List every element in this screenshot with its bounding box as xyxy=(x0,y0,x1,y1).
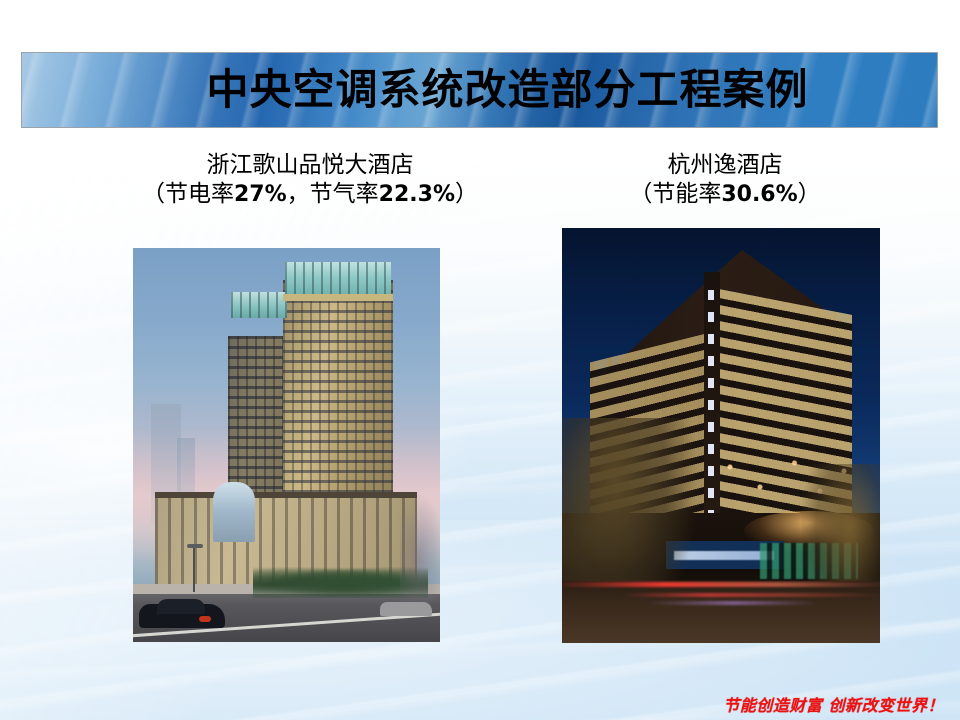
photo-1-car-silver xyxy=(380,602,432,616)
photo-1-street-lamp-head xyxy=(187,544,203,548)
case-1-stats-prefix: （节电率 xyxy=(142,181,234,207)
photo-2-light-trail-red-a xyxy=(562,582,880,587)
title-banner: 中央空调系统改造部分工程案例 xyxy=(21,52,938,128)
photo-1-crown-mullions-a xyxy=(285,262,391,296)
case-2-stats-prefix: （节能率 xyxy=(629,181,721,207)
case-1-name: 浙江歌山品悦大酒店 xyxy=(110,152,510,179)
case-1-stats-suffix: ） xyxy=(455,181,478,207)
caption-case-1: 浙江歌山品悦大酒店 （节电率27%，节气率22.3%） xyxy=(110,152,510,208)
photo-1-glass-crown-secondary xyxy=(231,292,287,318)
photo-2-light-trail-violet xyxy=(648,601,818,605)
case-2-stats: （节能率30.6%） xyxy=(565,181,885,208)
footer-slogan: 节能创造财富 创新改变世界！ xyxy=(723,692,944,716)
photo-1-glass-crown-main xyxy=(285,262,391,296)
photo-2-light-trail-red-b xyxy=(622,593,880,597)
case-2-name: 杭州逸酒店 xyxy=(565,152,885,179)
photo-2-road xyxy=(562,581,880,643)
page-title: 中央空调系统改造部分工程案例 xyxy=(22,53,937,127)
case-2-stat-energy: 30.6% xyxy=(721,182,797,207)
case-1-stats-middle: ，节气率 xyxy=(287,181,379,207)
case-1-stats: （节电率27%，节气率22.3%） xyxy=(110,181,510,208)
caption-case-2: 杭州逸酒店 （节能率30.6%） xyxy=(565,152,885,208)
photo-1-car-taillight xyxy=(199,616,211,622)
case-1-stat-electricity: 27% xyxy=(234,182,287,207)
photo-1-car-black-cabin xyxy=(157,599,205,614)
photo-1-crown-band xyxy=(283,294,393,301)
photo-case-2 xyxy=(562,228,880,643)
photo-1-street-lamp-pole xyxy=(193,546,195,592)
slide-root: 中央空调系统改造部分工程案例 浙江歌山品悦大酒店 （节电率27%，节气率22.3… xyxy=(0,0,960,720)
case-1-stat-gas: 22.3% xyxy=(379,182,455,207)
case-2-stats-suffix: ） xyxy=(798,181,821,207)
photo-1-glass-rotunda xyxy=(213,482,255,542)
photo-1-right-foliage xyxy=(400,492,440,602)
photo-case-1 xyxy=(133,248,440,642)
photo-1-crown-mullions-b xyxy=(231,292,287,318)
